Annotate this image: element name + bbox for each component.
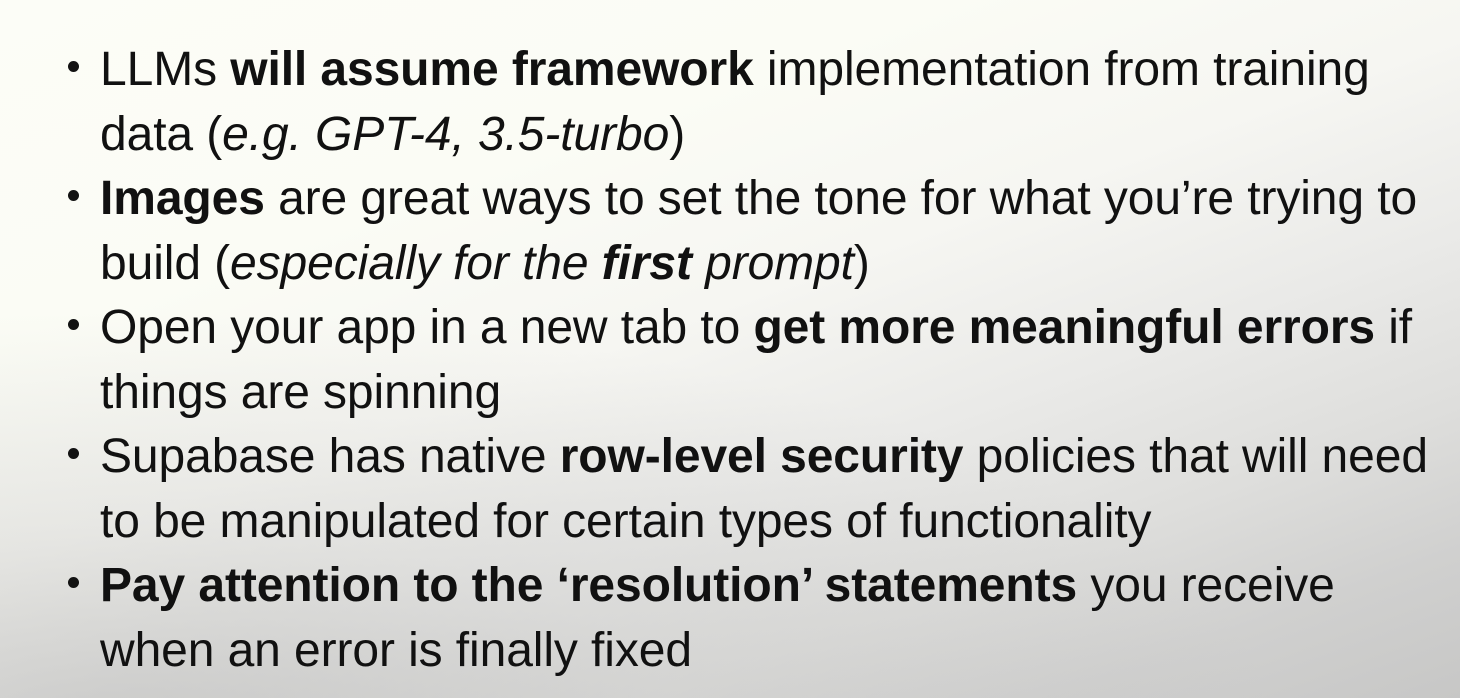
bullet-point-icon xyxy=(68,190,79,201)
list-item: Images are great ways to set the tone fo… xyxy=(68,167,1430,296)
list-item: Supabase has native row-level security p… xyxy=(68,425,1430,554)
bullet-list: LLMs will assume framework implementatio… xyxy=(0,0,1460,683)
presentation-slide: LLMs will assume framework implementatio… xyxy=(0,0,1460,698)
list-item: Pay attention to the ‘resolution’ statem… xyxy=(68,554,1430,683)
bullet-text: Images are great ways to set the tone fo… xyxy=(100,167,1430,296)
bullet-point-icon xyxy=(68,448,79,459)
bullet-point-icon xyxy=(68,319,79,330)
bullet-text: LLMs will assume framework implementatio… xyxy=(100,38,1430,167)
list-item: LLMs will assume framework implementatio… xyxy=(68,38,1430,167)
bullet-text: Open your app in a new tab to get more m… xyxy=(100,296,1430,425)
bullet-text: Pay attention to the ‘resolution’ statem… xyxy=(100,554,1430,683)
bullet-point-icon xyxy=(68,61,79,72)
list-item: Open your app in a new tab to get more m… xyxy=(68,296,1430,425)
bullet-point-icon xyxy=(68,577,79,588)
bullet-text: Supabase has native row-level security p… xyxy=(100,425,1430,554)
